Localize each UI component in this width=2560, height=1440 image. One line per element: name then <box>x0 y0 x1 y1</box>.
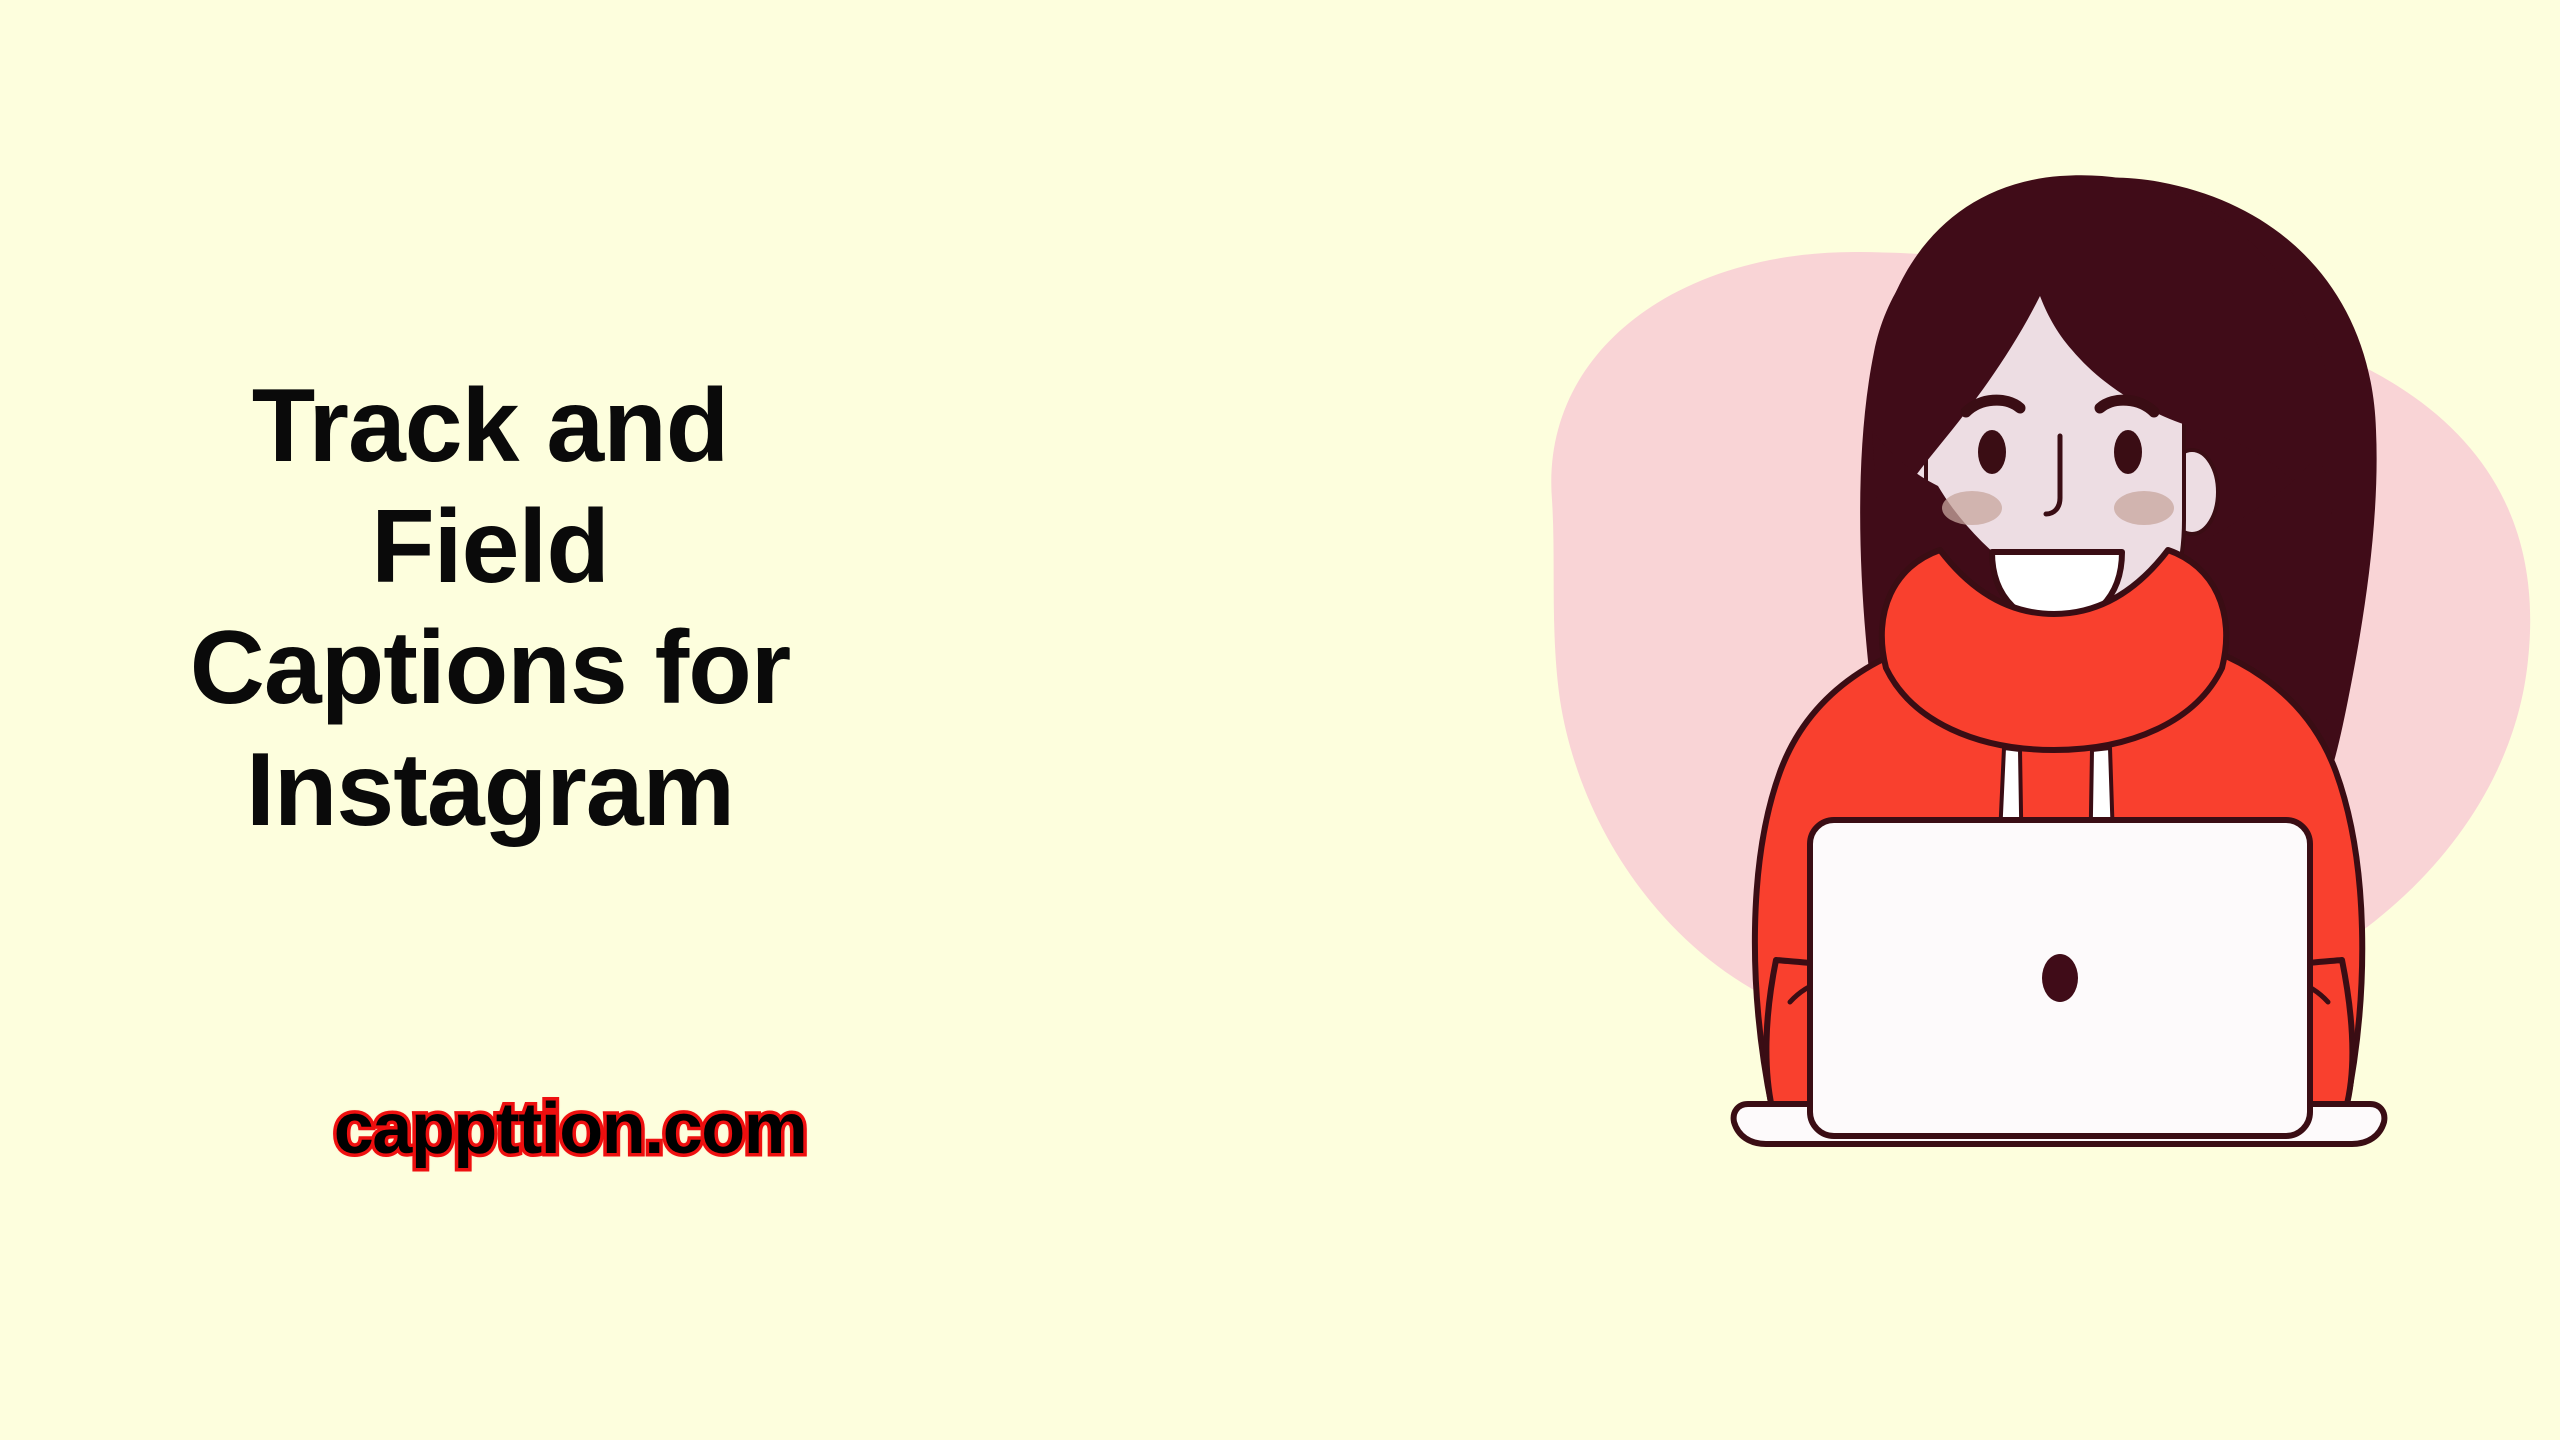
blush-left <box>1942 491 2002 525</box>
title-line-3: Captions for <box>140 614 840 723</box>
site-watermark: cappttion.com <box>140 1088 1000 1170</box>
laptop-logo-dot <box>2042 954 2078 1002</box>
woman-laptop-illustration <box>1480 100 2560 1160</box>
title-line-1: Track and <box>140 372 840 481</box>
eye-right <box>2114 430 2142 474</box>
page-title: Track and Field Captions for Instagram <box>140 372 840 845</box>
blush-right <box>2114 491 2174 525</box>
eye-left <box>1978 430 2006 474</box>
poster-canvas: Track and Field Captions for Instagram c… <box>0 0 2560 1440</box>
title-line-4: Instagram <box>140 736 840 845</box>
title-line-2: Field <box>140 493 840 602</box>
